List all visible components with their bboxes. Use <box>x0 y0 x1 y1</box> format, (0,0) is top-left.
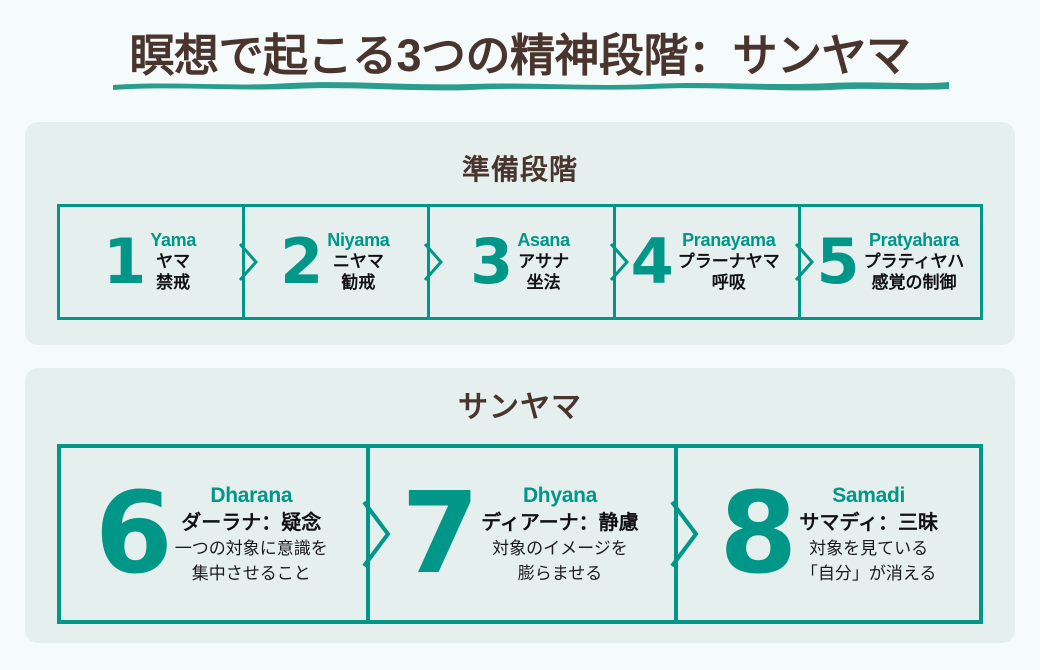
step-number: 1 <box>103 231 144 293</box>
step-card-8[interactable]: 8 Samadi サマディ：三昧 対象を見ている 「自分」が消える <box>674 444 983 624</box>
step-name-en: Pratyahara <box>864 230 965 252</box>
step-name-en: Pranayama <box>678 230 780 252</box>
step-name-jp: プラーナヤマ <box>678 252 780 273</box>
step-card-2[interactable]: 2 Niyama ニヤマ 勧戒 <box>242 204 427 320</box>
step-name-jp: ダーラナ：疑念 <box>175 511 328 535</box>
step-card-left-edge <box>427 204 430 320</box>
section-samyama: サンヤマ 6 Dharana ダーラナ：疑念 一つの対象に意識を 集中させること… <box>25 368 1015 643</box>
section-heading-samyama: サンヤマ <box>25 368 1015 426</box>
step-number: 7 <box>401 478 475 590</box>
step-description-line2: 「自分」が消える <box>799 563 938 585</box>
step-card-left-edge <box>674 444 678 624</box>
step-name-en: Asana <box>517 230 570 252</box>
step-number: 5 <box>817 231 858 293</box>
step-card-7[interactable]: 7 Dhyana ディアーナ：静慮 対象のイメージを 膨らませる <box>366 444 675 624</box>
step-card-3[interactable]: 3 Asana アサナ 坐法 <box>427 204 612 320</box>
step-card-5[interactable]: 5 Pratyahara プラティヤハ 感覚の制御 <box>798 204 983 320</box>
step-name-en: Dhyana <box>481 483 638 509</box>
step-meaning-jp: 勧戒 <box>327 273 389 294</box>
step-name-jp: ニヤマ <box>327 252 389 273</box>
step-card-left-edge <box>366 444 370 624</box>
section-preparation: 準備段階 1 Yama ヤマ 禁戒 2 Niyama ニヤ <box>25 122 1015 345</box>
step-name-en: Niyama <box>327 230 389 252</box>
step-card-6[interactable]: 6 Dharana ダーラナ：疑念 一つの対象に意識を 集中させること <box>57 444 366 624</box>
step-number: 8 <box>719 478 793 590</box>
step-card-left-edge <box>613 204 616 320</box>
step-meaning-jp: 呼吸 <box>678 273 780 294</box>
step-name-jp: プラティヤハ <box>864 252 965 273</box>
step-description-line1: 一つの対象に意識を <box>175 538 328 560</box>
preparation-steps-row: 1 Yama ヤマ 禁戒 2 Niyama ニヤマ 勧戒 <box>25 204 1015 320</box>
step-card-1[interactable]: 1 Yama ヤマ 禁戒 <box>57 204 242 320</box>
step-meaning-jp: 禁戒 <box>150 273 196 294</box>
step-description-line2: 膨らませる <box>481 563 638 585</box>
step-name-en: Dharana <box>175 483 328 509</box>
page-title-area: 瞑想で起こる3つの精神段階：サンヤマ <box>0 0 1040 110</box>
step-name-jp: サマディ：三昧 <box>799 511 938 535</box>
step-card-4[interactable]: 4 Pranayama プラーナヤマ 呼吸 <box>613 204 798 320</box>
page-title: 瞑想で起こる3つの精神段階：サンヤマ <box>129 33 910 78</box>
step-description-line1: 対象を見ている <box>799 538 938 560</box>
step-number: 6 <box>95 478 169 590</box>
section-heading-preparation: 準備段階 <box>25 122 1015 188</box>
step-number: 3 <box>470 231 511 293</box>
step-meaning-jp: 坐法 <box>517 273 570 294</box>
step-card-left-edge <box>242 204 245 320</box>
step-description-line1: 対象のイメージを <box>481 538 638 560</box>
step-name-jp: ヤマ <box>150 252 196 273</box>
step-name-en: Samadi <box>799 483 938 509</box>
step-name-jp: ディアーナ：静慮 <box>481 511 638 535</box>
step-description-line2: 集中させること <box>175 563 328 585</box>
step-card-left-edge <box>798 204 801 320</box>
step-meaning-jp: 感覚の制御 <box>864 273 965 294</box>
step-number: 2 <box>280 231 321 293</box>
step-name-en: Yama <box>150 230 196 252</box>
step-number: 4 <box>631 231 672 293</box>
step-name-jp: アサナ <box>517 252 570 273</box>
samyama-steps-row: 6 Dharana ダーラナ：疑念 一つの対象に意識を 集中させること 7 Dh… <box>25 444 1015 624</box>
